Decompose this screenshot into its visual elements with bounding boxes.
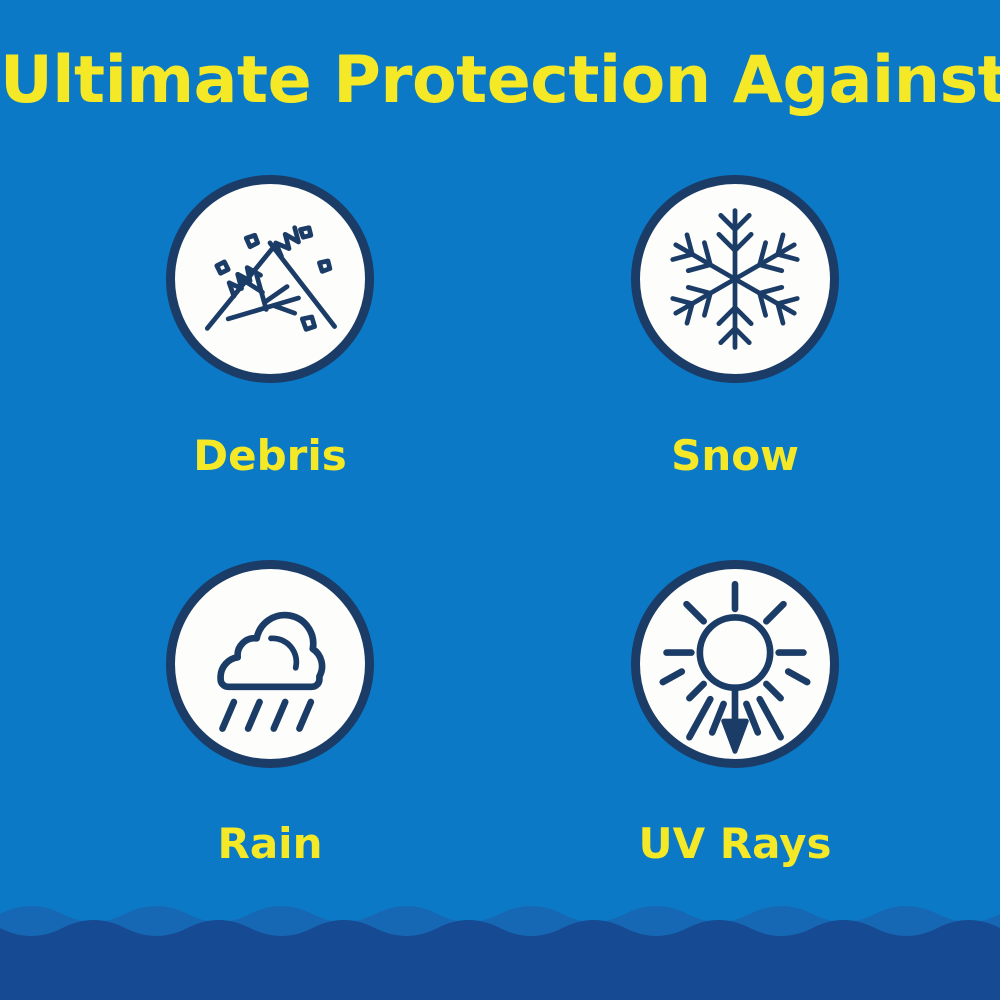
feature-label-uv-rays: UV Rays: [525, 823, 945, 865]
debris-branches-icon: [166, 175, 374, 383]
feature-card-snow: Snow: [525, 175, 945, 477]
feature-card-debris: Debris: [60, 175, 480, 477]
infographic-canvas: Ultimate Protection Against: [0, 0, 1000, 1000]
feature-card-rain: Rain: [60, 560, 480, 865]
snowflake-icon: [631, 175, 839, 383]
feature-card-uv-rays: UV Rays: [525, 560, 945, 865]
rain-cloud-icon: [166, 560, 374, 768]
wave-decoration: [0, 892, 1000, 1000]
feature-label-debris: Debris: [60, 435, 480, 477]
feature-label-snow: Snow: [525, 435, 945, 477]
page-title: Ultimate Protection Against: [0, 48, 1000, 113]
sun-uv-rays-icon: [631, 560, 839, 768]
feature-label-rain: Rain: [60, 823, 480, 865]
